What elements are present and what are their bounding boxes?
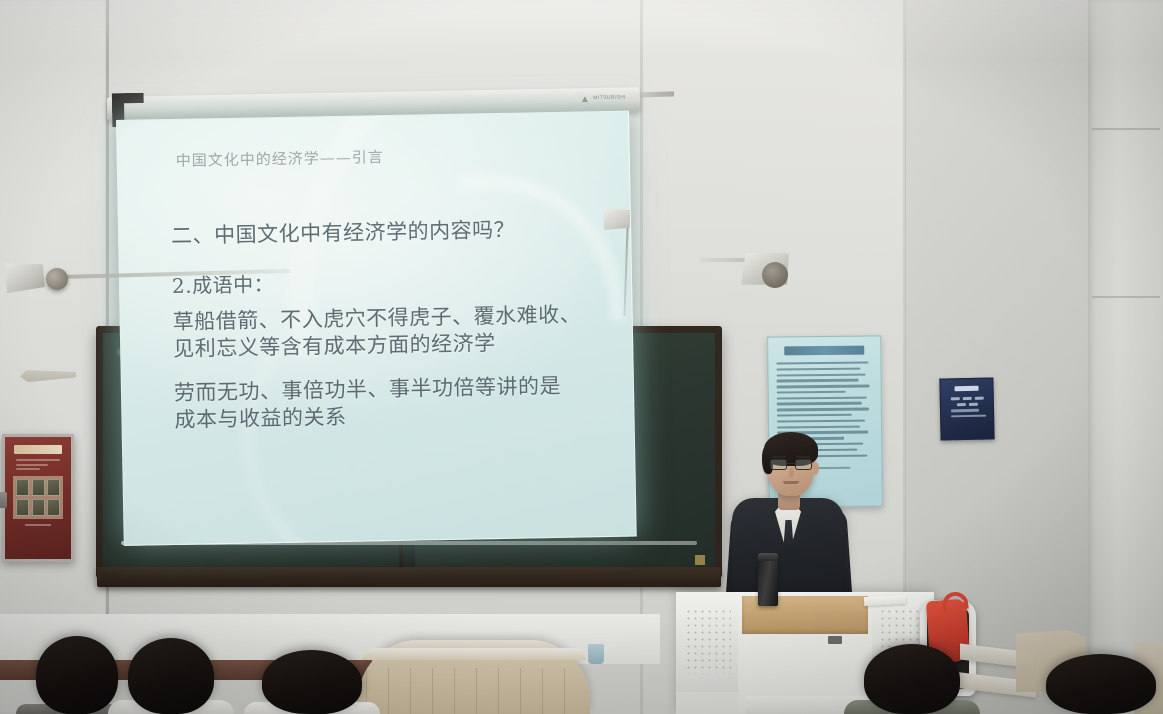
poster-title-bar <box>784 346 864 356</box>
poster-text-line <box>776 367 860 370</box>
wall-column-joint-1 <box>1092 128 1160 130</box>
slide-body: 二、中国文化中有经济学的内容吗？ 2.成语中： 草船借箭、不入虎穴不得虎子、覆水… <box>171 212 625 434</box>
plaque-cell <box>968 403 977 406</box>
student-head <box>36 636 118 714</box>
lectern-control-badge[interactable] <box>828 636 842 644</box>
plaque-cell <box>974 397 983 400</box>
lectern-speaker-grille-left <box>685 608 731 674</box>
pictogram-icon <box>47 479 60 496</box>
brand-logo-icon <box>582 96 588 102</box>
poster-text-line <box>777 385 870 388</box>
plaque-row <box>947 403 987 407</box>
wall-column-joint-2 <box>1092 296 1160 298</box>
pictogram-icon <box>32 499 45 516</box>
plaque-row <box>947 397 987 401</box>
fire-cabinet-text-line <box>16 459 60 461</box>
glasses-bridge <box>787 463 795 464</box>
fire-instruction-pictograms <box>13 476 63 519</box>
fire-cabinet-title-plate <box>14 445 62 454</box>
speaker-cone-right-icon <box>762 262 788 288</box>
front-table-slats <box>366 668 582 714</box>
thermos-cap <box>758 553 778 561</box>
front-table-edge <box>362 648 586 660</box>
fire-cabinet-footer-line <box>25 524 51 526</box>
plaque-cell <box>950 397 959 400</box>
plaque-cell <box>956 403 965 406</box>
thermos-bottle <box>758 558 778 606</box>
glasses-lens-right <box>795 459 812 470</box>
housing-brand-label: MITSUBISHI <box>593 94 626 101</box>
poster-text-line <box>777 414 852 417</box>
presenter-nose <box>789 468 794 478</box>
poster-text-line <box>777 373 866 376</box>
student-head <box>261 649 362 714</box>
pictogram-icon <box>47 499 60 516</box>
fire-hydrant-cabinet[interactable] <box>2 434 74 562</box>
lecture-hall-photo: MITSUBISHI 中国文化中的经济学——引言 二、中国文化中有经济学的内容吗… <box>0 0 1163 714</box>
poster-text-line <box>777 419 865 422</box>
student-head <box>864 644 960 714</box>
slide-header: 中国文化中的经济学——引言 <box>176 142 596 171</box>
poster-text-line <box>777 402 862 405</box>
water-cup <box>588 644 604 664</box>
wall-panel-left <box>0 0 108 714</box>
slide-line-question: 二、中国文化中有经济学的内容吗？ <box>171 212 621 250</box>
poster-text-line <box>776 362 868 365</box>
speaker-cone-left-icon <box>46 268 68 290</box>
chalk-tray <box>97 567 721 587</box>
plaque-text-line <box>951 415 986 418</box>
blackboard-corner-fitting <box>695 555 705 565</box>
poster-text-line <box>777 379 859 382</box>
projection-screen: 中国文化中的经济学——引言 二、中国文化中有经济学的内容吗？ 2.成语中： 草船… <box>116 111 637 546</box>
wall-information-plaque <box>939 377 994 440</box>
slide-line-subheading: 2.成语中： <box>172 262 622 299</box>
poster-text-line <box>777 408 869 411</box>
presenter-mouth <box>783 481 799 484</box>
fire-cabinet-text-line <box>16 468 40 470</box>
pictogram-icon <box>32 479 45 496</box>
plaque-title-bar <box>955 386 979 392</box>
glasses-lens-left <box>770 459 787 470</box>
student-head <box>1046 654 1156 714</box>
plaque-text-line <box>951 409 979 412</box>
fire-cabinet-text-line <box>16 464 48 466</box>
wall-speaker-small <box>604 208 630 230</box>
poster-text-line <box>777 396 867 399</box>
student-head <box>128 638 214 714</box>
ceiling-light-falloff <box>0 0 1163 60</box>
plaque-cell <box>962 397 971 400</box>
poster-text-line <box>777 391 846 394</box>
pictogram-icon <box>16 479 29 496</box>
fire-cabinet-handle[interactable] <box>0 492 7 508</box>
pictogram-icon <box>16 499 29 516</box>
wall-column-right <box>1088 0 1163 714</box>
